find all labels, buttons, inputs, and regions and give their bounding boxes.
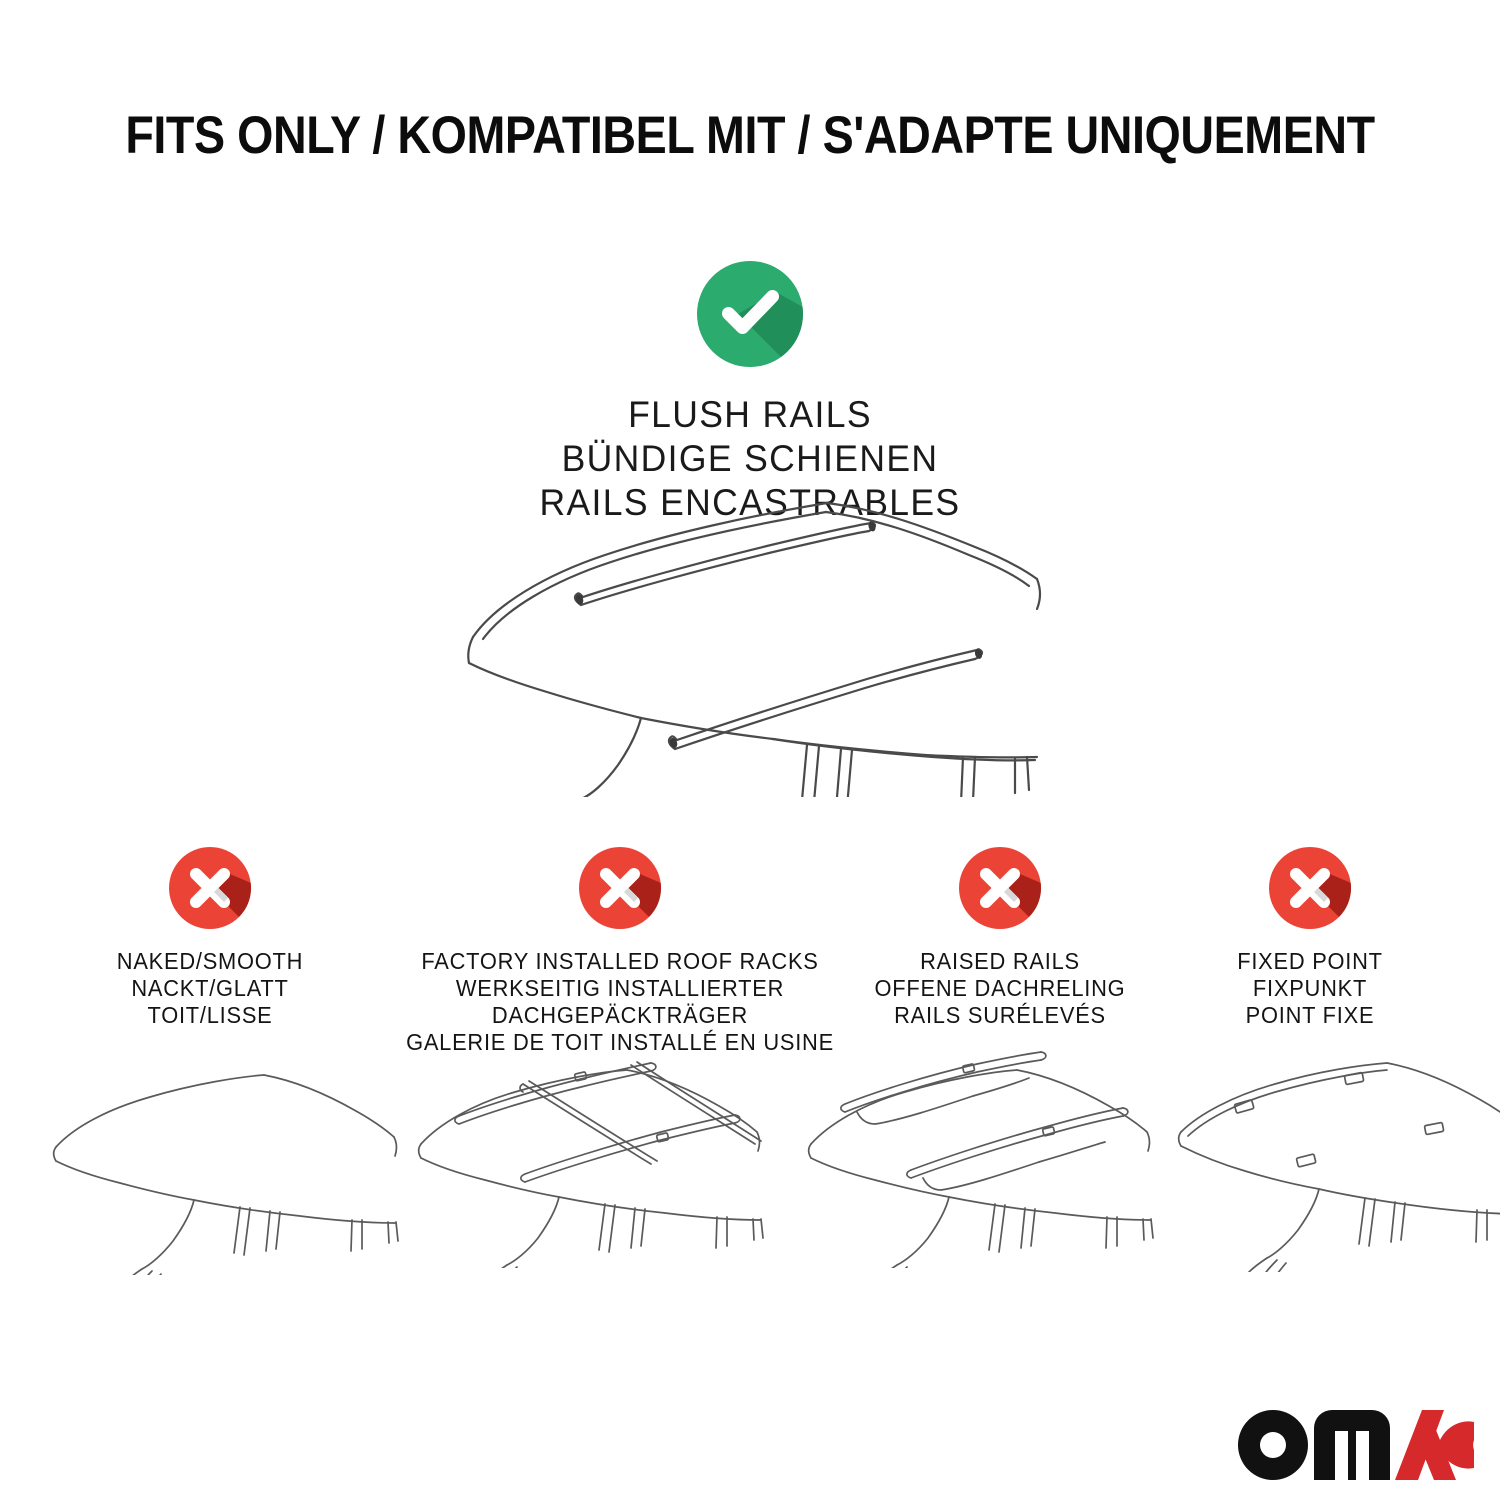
- incompatible-label-fr: RAILS SURÉLEVÉS: [850, 1002, 1150, 1029]
- incompatible-option-naked-smooth: NAKED/SMOOTH NACKT/GLATT TOIT/LISSE: [40, 845, 380, 1029]
- incompatible-option-raised-rails: RAISED RAILS OFFENE DACHRELING RAILS SUR…: [842, 845, 1158, 1029]
- omac-logo: [1238, 1410, 1474, 1480]
- incompatible-label-en: RAISED RAILS: [850, 948, 1150, 975]
- incompatible-label-de-2: DACHGEPÄCKTRÄGER: [392, 1002, 848, 1029]
- check-circle-icon: [694, 258, 806, 370]
- incompatible-labels: RAISED RAILS OFFENE DACHRELING RAILS SUR…: [850, 948, 1150, 1029]
- compatible-section: FLUSH RAILS BÜNDIGE SCHIENEN RAILS ENCAS…: [0, 258, 1500, 525]
- incompatible-label-de: NACKT/GLATT: [49, 975, 372, 1002]
- incompatible-label-en: FACTORY INSTALLED ROOF RACKS: [392, 948, 848, 975]
- incompatible-labels: NAKED/SMOOTH NACKT/GLATT TOIT/LISSE: [49, 948, 372, 1029]
- logo-letter-o: [1238, 1410, 1308, 1480]
- x-circle-icon: [167, 918, 253, 935]
- incompatible-option-fixed-point: FIXED POINT FIXPUNKT POINT FIXE: [1160, 845, 1460, 1029]
- car-roof-fixed-point-drawing: [1175, 1052, 1500, 1272]
- compatible-label-en: FLUSH RAILS: [30, 393, 1470, 437]
- car-roof-factory-racks-drawing: [415, 1048, 765, 1268]
- incompatible-option-factory-installed-roof-racks: FACTORY INSTALLED ROOF RACKS WERKSEITIG …: [380, 845, 860, 1056]
- x-circle-icon: [957, 918, 1043, 935]
- incompatible-label-fr: TOIT/LISSE: [49, 1002, 372, 1029]
- page-title: FITS ONLY / KOMPATIBEL MIT / S'ADAPTE UN…: [90, 104, 1410, 168]
- incompatible-label-de-1: WERKSEITIG INSTALLIERTER: [392, 975, 848, 1002]
- car-roof-raised-rails-drawing: [805, 1048, 1155, 1268]
- incompatible-label-de: OFFENE DACHRELING: [850, 975, 1150, 1002]
- car-roof-naked-smooth-drawing: [52, 1055, 402, 1275]
- incompatible-label-de: FIXPUNKT: [1168, 975, 1453, 1002]
- incompatible-labels: FIXED POINT FIXPUNKT POINT FIXE: [1168, 948, 1453, 1029]
- incompatible-label-en: NAKED/SMOOTH: [49, 948, 372, 975]
- logo-letter-m: [1314, 1410, 1390, 1480]
- x-circle-icon: [1267, 918, 1353, 935]
- car-roof-flush-rails-drawing: [455, 487, 1055, 797]
- incompatible-label-fr: POINT FIXE: [1168, 1002, 1453, 1029]
- incompatible-label-en: FIXED POINT: [1168, 948, 1453, 975]
- x-circle-icon: [577, 918, 663, 935]
- incompatible-labels: FACTORY INSTALLED ROOF RACKS WERKSEITIG …: [392, 948, 848, 1056]
- compatible-label-de: BÜNDIGE SCHIENEN: [30, 437, 1470, 481]
